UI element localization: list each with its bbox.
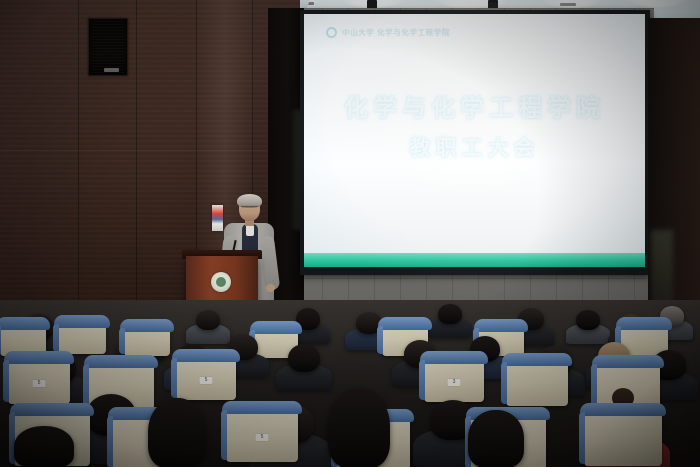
slide-title-line2: 教职工大会 [304, 132, 645, 162]
auditorium-seat: 5 [176, 352, 236, 400]
auditorium-seat [58, 318, 106, 354]
ceiling-vent [560, 3, 576, 6]
auditorium-seat [124, 322, 170, 356]
projection-screen: 中山大学 化学与化学工程学院 化学与化学工程学院 教职工大会 [300, 10, 650, 275]
audience-long-hair [468, 410, 524, 467]
audience-long-hair [328, 388, 390, 467]
speaker-grille [91, 21, 125, 73]
ceiling-light [626, 0, 690, 7]
speaker-brand-label [104, 68, 119, 72]
seat-number-plaque: 3 [448, 379, 461, 386]
auditorium-seat: 5 [226, 404, 298, 462]
university-circle-logo-icon [326, 27, 337, 38]
slide-header-text: 中山大学 化学与化学工程学院 [342, 27, 450, 38]
presenter-right-hand [266, 284, 275, 292]
presenter-glasses [241, 206, 258, 210]
audience-head [288, 344, 320, 372]
auditorium-seat [506, 356, 568, 406]
audience-long-hair [148, 398, 206, 467]
slide-header: 中山大学 化学与化学工程学院 [326, 27, 450, 38]
lecture-hall-photo: 中山大学 化学与化学工程学院 化学与化学工程学院 教职工大会 55 [0, 0, 700, 467]
audience-long-hair [14, 426, 74, 467]
slide-surface: 中山大学 化学与化学工程学院 化学与化学工程学院 教职工大会 [304, 14, 645, 267]
slide-title-line1: 化学与化学工程学院 [304, 88, 645, 123]
audience-head [438, 304, 462, 324]
audience-seating-area: 55355 [0, 300, 700, 467]
recessed-wall-speaker [88, 18, 128, 76]
institution-seal-icon [211, 272, 231, 292]
audience-head [196, 310, 220, 330]
seat-number-plaque: 5 [33, 380, 46, 387]
seat-number-plaque: 5 [256, 434, 269, 441]
seat-number-plaque: 5 [200, 377, 213, 384]
audience-head [576, 310, 600, 330]
slide-title-block: 化学与化学工程学院 教职工大会 [304, 88, 645, 162]
auditorium-seat: 5 [8, 354, 70, 404]
auditorium-seat [584, 406, 662, 466]
slide-accent-band [304, 253, 645, 267]
auditorium-seat: 3 [424, 354, 484, 402]
